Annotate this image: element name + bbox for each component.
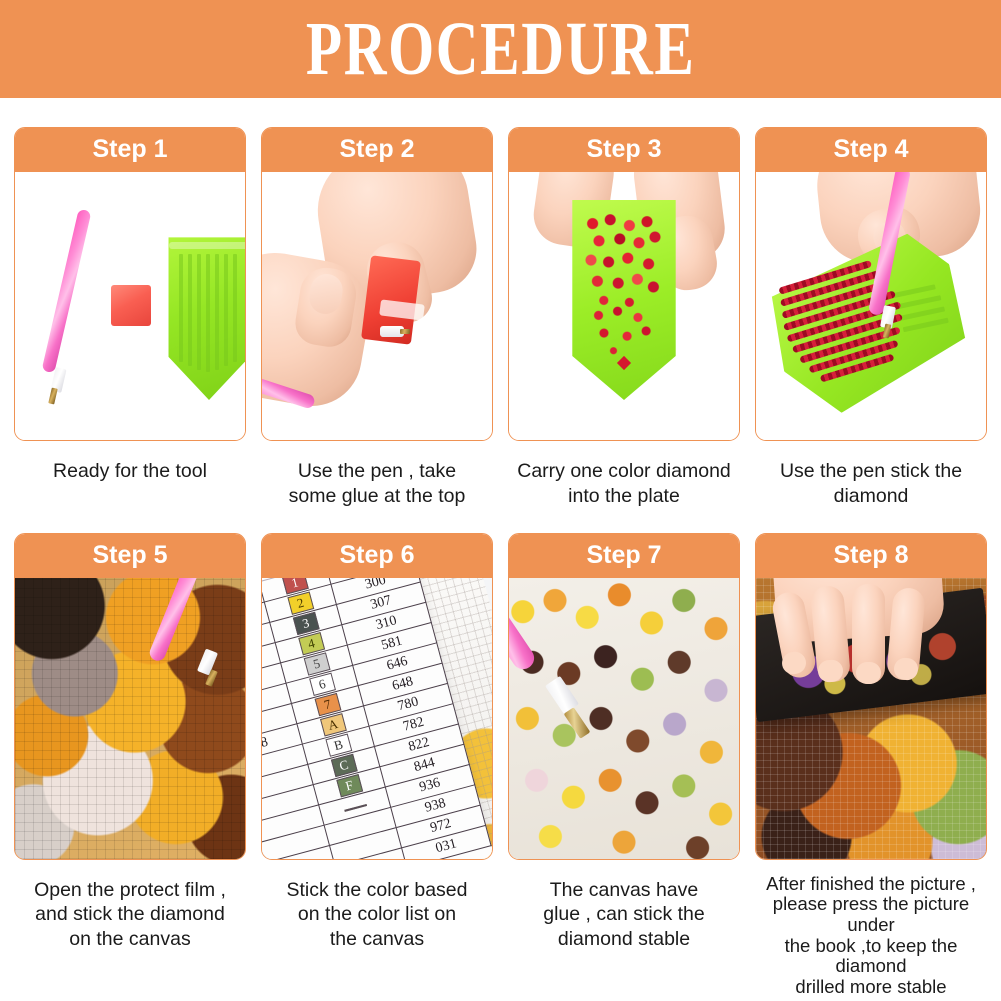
- step-photo-6: Serial Symbol DMC 1 1 2: [262, 578, 492, 859]
- step-card-4: Step 4: [755, 127, 987, 441]
- step-header-label-5: Step 5: [92, 543, 167, 568]
- symbol-chip: [344, 804, 367, 812]
- step-caption-5: Open the protect film , and stick the di…: [14, 878, 246, 952]
- steps-grid-row-1: Step 1: [0, 98, 1001, 509]
- step-cell-8: Step 8 After finished the picture , plea…: [755, 533, 987, 998]
- step-header-7: Step 7: [508, 533, 740, 578]
- step-cell-7: Step 7 The canvas have glue , can stick …: [508, 533, 740, 998]
- step-cell-4: Step 4: [755, 127, 987, 509]
- step-header-label-6: Step 6: [339, 543, 414, 568]
- red-drills-pile: [575, 210, 673, 380]
- applicator-pen: [41, 209, 91, 374]
- step-caption-4: Use the pen stick the diamond: [755, 459, 987, 509]
- step-card-6: Step 6 Serial Symbol DM: [261, 533, 493, 860]
- color-chart-photo: Serial Symbol DMC 1 1 2: [262, 578, 492, 859]
- glue-square: [111, 285, 151, 326]
- pen-tip-needle: [400, 329, 410, 334]
- step-card-5: Step 5: [14, 533, 246, 860]
- step-header-label-7: Step 7: [586, 543, 661, 568]
- step-cell-3: Step 3 Carry one color diamond into: [508, 127, 740, 509]
- step-header-label-2: Step 2: [339, 137, 414, 162]
- step-card-8: Step 8: [755, 533, 987, 860]
- step-cell-2: Step 2 Use the pen , take some glue: [261, 127, 493, 509]
- steps-grid-row-2: Step 5 Open the protect film , and stick…: [0, 509, 1001, 998]
- step-card-3: Step 3: [508, 127, 740, 441]
- step-header-1: Step 1: [14, 127, 246, 172]
- step-caption-1: Ready for the tool: [14, 459, 246, 484]
- step-photo-4: [756, 172, 986, 440]
- step-header-2: Step 2: [261, 127, 493, 172]
- step-photo-3: [509, 172, 739, 440]
- nail-3: [856, 662, 881, 684]
- step-header-label-4: Step 4: [833, 137, 908, 162]
- step-cell-6: Step 6 Serial Symbol DM: [261, 533, 493, 998]
- step-header-5: Step 5: [14, 533, 246, 578]
- page-banner: PROCEDURE: [0, 0, 1001, 98]
- step-card-7: Step 7: [508, 533, 740, 860]
- step-card-1: Step 1: [14, 127, 246, 441]
- step-header-label-8: Step 8: [833, 543, 908, 568]
- step-header-6: Step 6: [261, 533, 493, 578]
- step-header-4: Step 4: [755, 127, 987, 172]
- step-header-label-1: Step 1: [92, 137, 167, 162]
- step-caption-3: Carry one color diamond into the plate: [508, 459, 740, 509]
- step-caption-7: The canvas have glue , can stick the dia…: [508, 878, 740, 952]
- step-caption-6: Stick the color based on the color list …: [261, 878, 493, 952]
- step-cell-5: Step 5 Open the protect film , and stick…: [14, 533, 246, 998]
- step-header-3: Step 3: [508, 127, 740, 172]
- drill-tray: [165, 234, 245, 400]
- step-header-8: Step 8: [755, 533, 987, 578]
- step-photo-5: [15, 578, 245, 859]
- step-caption-8: After finished the picture , please pres…: [755, 874, 987, 998]
- step-header-label-3: Step 3: [586, 137, 661, 162]
- sunflower-mosaic: [15, 578, 245, 859]
- step-photo-7: [509, 578, 739, 859]
- step-photo-2: [262, 172, 492, 440]
- step-card-2: Step 2: [261, 127, 493, 441]
- pen-tip-needle: [48, 388, 57, 405]
- step-photo-8: [756, 578, 986, 859]
- step-cell-1: Step 1: [14, 127, 246, 509]
- round-drill-closeup: [509, 578, 739, 859]
- step-caption-2: Use the pen , take some glue at the top: [261, 459, 493, 509]
- step-photo-1: [15, 172, 245, 440]
- page-title: PROCEDURE: [306, 11, 696, 87]
